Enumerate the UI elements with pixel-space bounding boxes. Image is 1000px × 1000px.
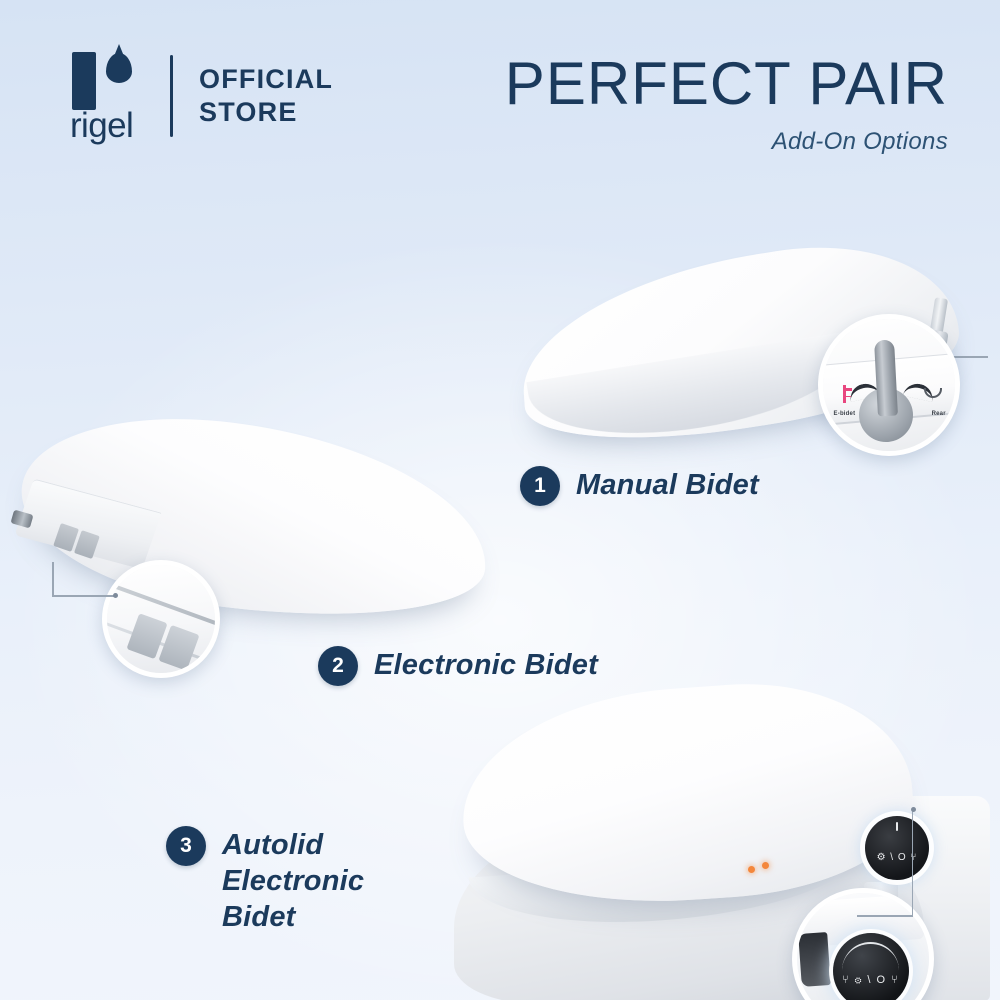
zoomed-rotary-dial-icon: ⑂ ⚙ \ O ⑂ [833,933,909,1000]
status-led-indicator [748,866,755,873]
water-drop-icon [106,53,132,83]
detail-callout-manual-lever: E-bidet Rear [818,314,960,456]
product-label-3: 3 Autolid Electronic Bidet [166,826,364,936]
promo-canvas: rigel OFFICIAL STORE PERFECT PAIR Add-On… [0,0,1000,1000]
number-badge-2: 2 [318,646,358,686]
headline-block: PERFECT PAIR Add-On Options [505,54,948,156]
ebidet-symbol-icon [838,385,853,405]
product-image-manual-bidet: E-bidet Rear [510,248,980,468]
status-led-indicator [762,862,769,869]
product-label-1: 1 Manual Bidet [520,466,759,506]
detail-callout-seat-buttons [102,560,220,678]
number-badge-1: 1 [520,466,560,506]
brand-lockup: rigel OFFICIAL STORE [70,48,333,144]
callout-leader-line-3 [853,810,913,922]
detail-caption-left: E-bidet [834,411,856,417]
vertical-divider-icon [170,55,173,137]
callout-leader-line-2 [50,562,118,604]
logo-bar-icon [72,52,96,110]
detail-caption-right: Rear [932,411,946,417]
rigel-logo: rigel [70,48,144,144]
number-badge-3: 3 [166,826,206,866]
page-title: PERFECT PAIR [505,54,948,114]
product-name-3: Autolid Electronic Bidet [222,826,364,936]
brand-wordmark: rigel [70,108,133,143]
product-image-electronic-bidet [6,412,496,642]
page-subtitle: Add-On Options [505,128,948,156]
product-image-autolid-bidet: ⚙ \ O ⑂ ⑂ ⚙ \ O ⑂ [440,676,1000,1000]
official-store-label: OFFICIAL STORE [199,63,333,129]
dial-glyph-row-large: ⑂ ⚙ \ O ⑂ [833,974,909,986]
product-name-1: Manual Bidet [576,466,759,504]
